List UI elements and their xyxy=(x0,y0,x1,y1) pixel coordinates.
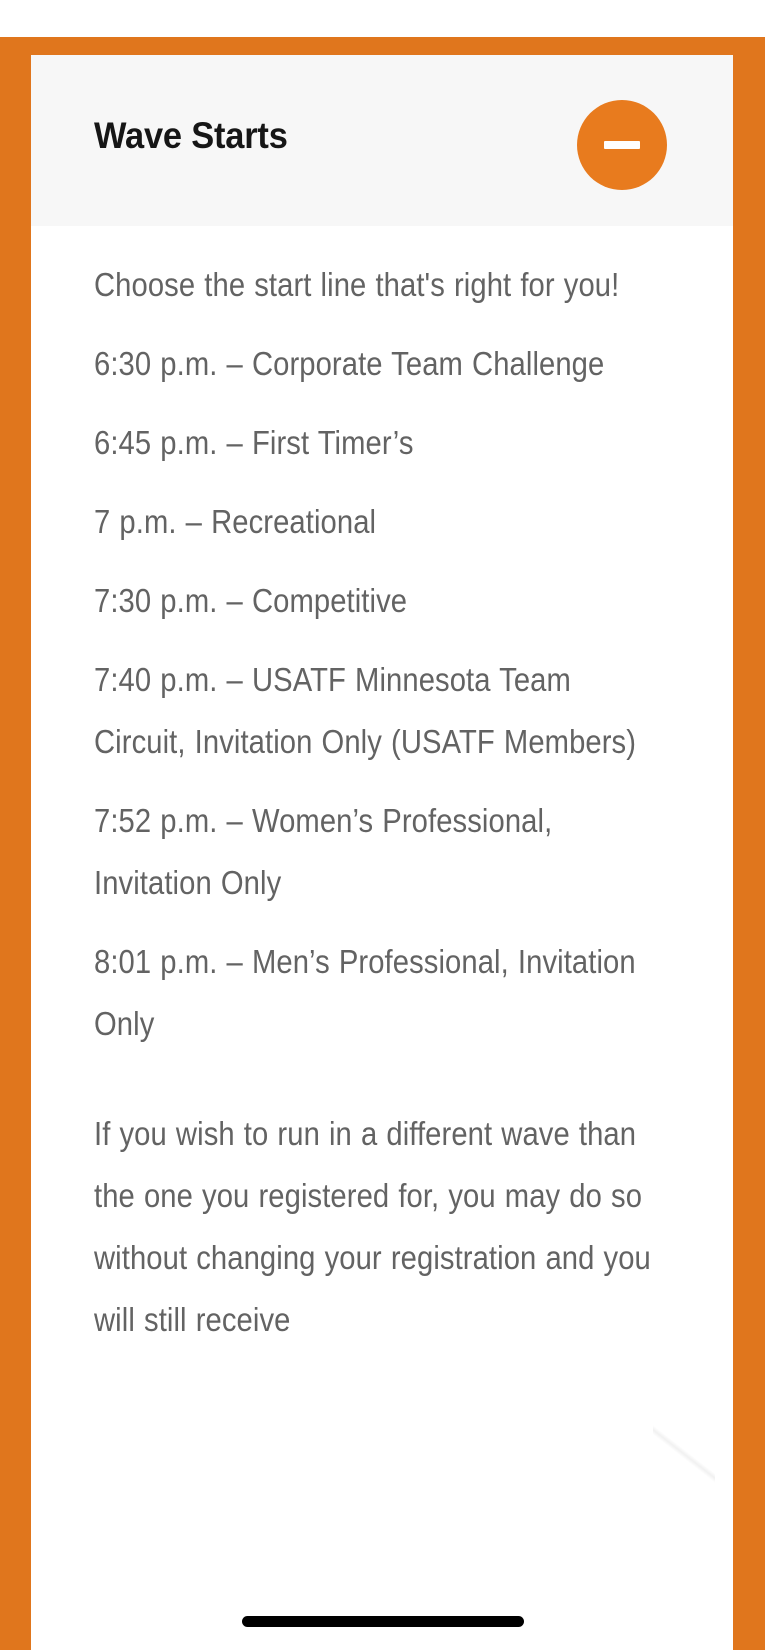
wave-starts-accordion-card: Wave Starts Choose the start line that's… xyxy=(31,55,733,1650)
intro-text: Choose the start line that's right for y… xyxy=(94,254,670,316)
page-title: Wave Starts xyxy=(94,115,288,157)
wave-item-740: 7:40 p.m. – USATF Minnesota Team Circuit… xyxy=(94,649,670,773)
wave-item-645: 6:45 p.m. – First Timer’s xyxy=(94,412,670,474)
accordion-body: Choose the start line that's right for y… xyxy=(31,226,733,1368)
wave-item-700: 7 p.m. – Recreational xyxy=(94,491,670,553)
app-frame: Wave Starts Choose the start line that's… xyxy=(0,0,765,1650)
minus-icon xyxy=(604,141,640,149)
wave-item-752: 7:52 p.m. – Women’s Professional, Invita… xyxy=(94,790,670,914)
page-curl-artifact xyxy=(653,1418,715,1490)
accordion-collapse-button[interactable] xyxy=(577,100,667,190)
wave-item-630: 6:30 p.m. – Corporate Team Challenge xyxy=(94,333,670,395)
wave-item-730: 7:30 p.m. – Competitive xyxy=(94,570,670,632)
home-indicator-bar[interactable] xyxy=(242,1616,524,1627)
accordion-header[interactable]: Wave Starts xyxy=(31,55,733,226)
wave-item-801: 8:01 p.m. – Men’s Professional, Invitati… xyxy=(94,931,670,1055)
wave-change-note: If you wish to run in a different wave t… xyxy=(94,1103,670,1351)
